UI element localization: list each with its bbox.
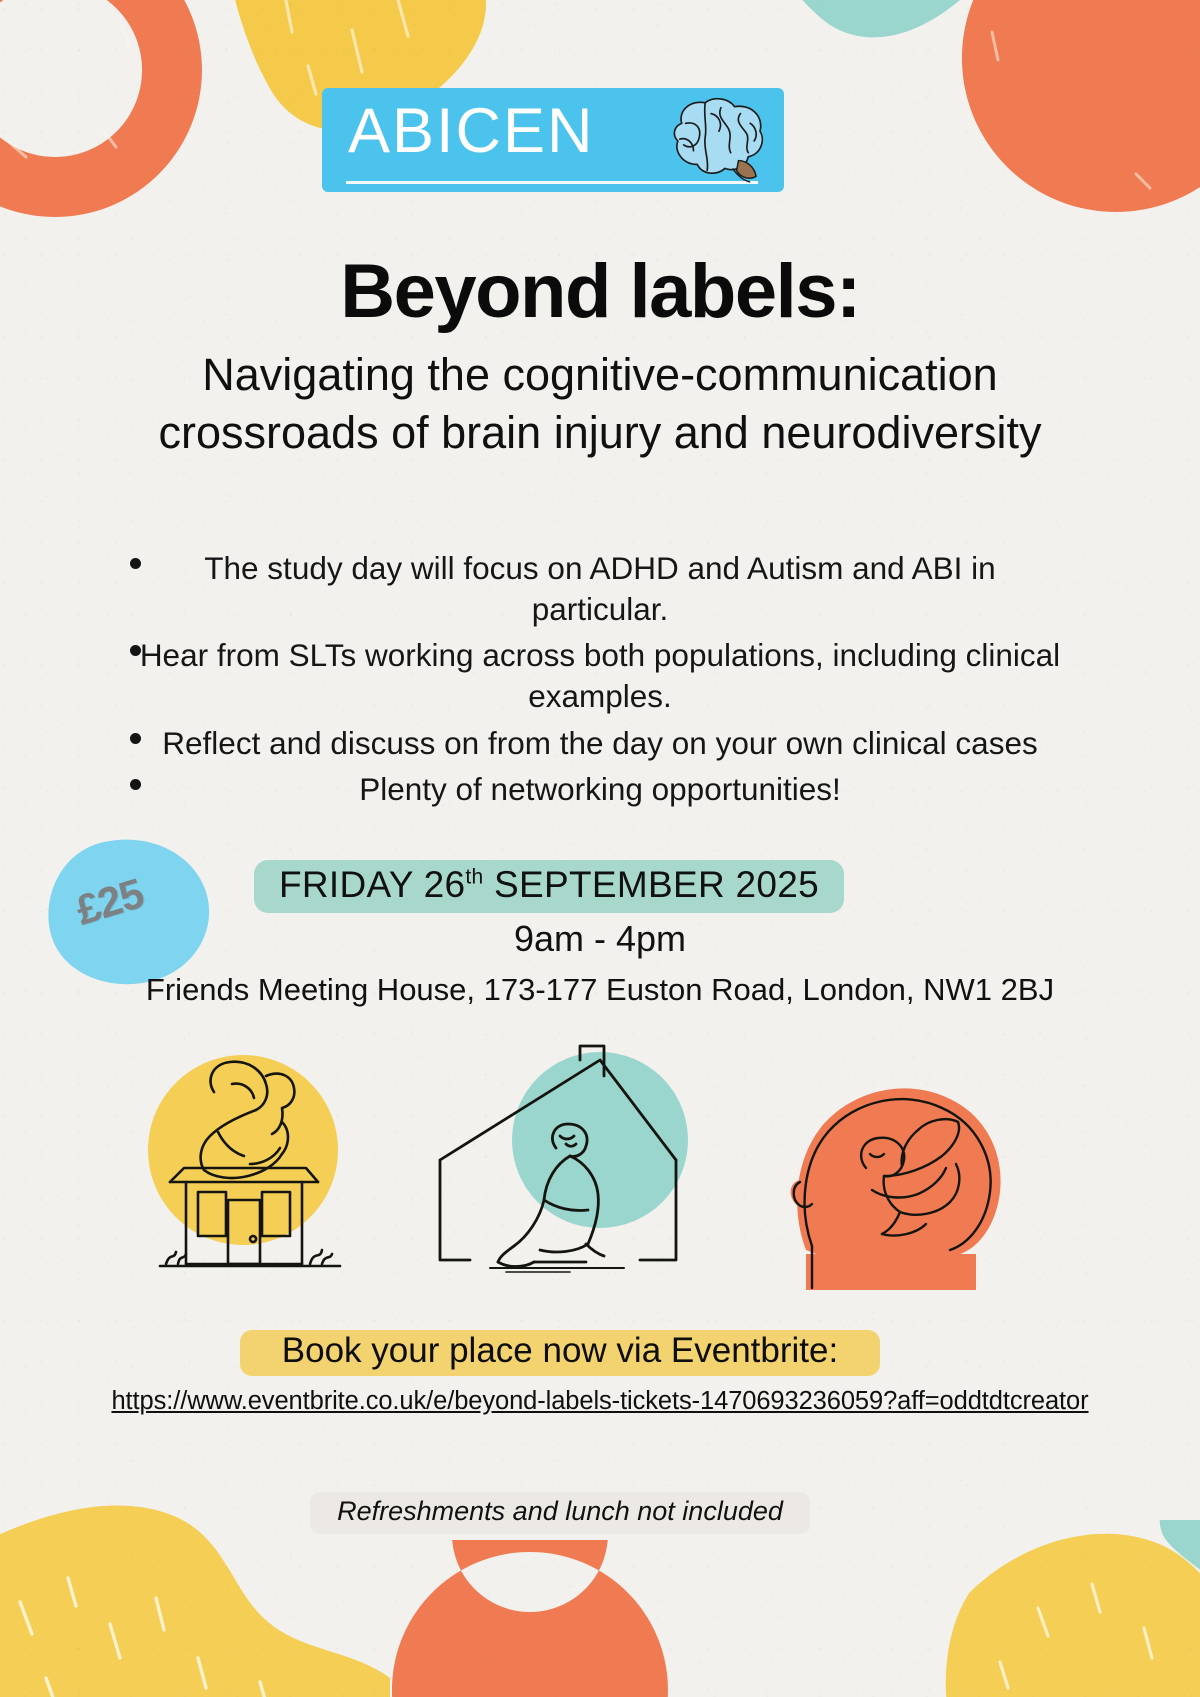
booking-cta-label: Book your place now via Eventbrite: [240,1331,880,1371]
bullet-dot-icon [130,779,141,790]
abicen-logo-text: ABICEN [348,100,595,163]
footnote-label: Refreshments and lunch not included [310,1496,810,1527]
date-prefix: FRIDAY 26 [279,864,465,905]
eventbrite-link[interactable]: https://www.eventbrite.co.uk/e/beyond-la… [0,1387,1200,1416]
brain-icon [656,94,774,186]
bullet-dot-icon [130,558,141,569]
decor-top-right-orange-spiral [946,0,1200,228]
abicen-logo-band: ABICEN [322,88,784,192]
illustration-row [0,1040,1200,1310]
event-date: FRIDAY 26th SEPTEMBER 2025 [254,864,844,906]
poster-canvas: ABICEN Beyond labels: Navigating the cog… [0,0,1200,1697]
list-item-label: Hear from SLTs working across both popul… [140,637,1060,714]
date-ordinal: th [465,866,483,889]
bullet-dot-icon [130,733,141,744]
list-item: Reflect and discuss on from the day on y… [112,723,1088,764]
list-item: The study day will focus on ADHD and Aut… [112,548,1088,629]
decor-bottom-center-orange-ring [380,1540,680,1697]
decor-top-left-orange-ring [0,0,220,235]
list-item-label: The study day will focus on ADHD and Aut… [204,550,995,627]
decor-bottom-right-orange-corner [1046,1330,1200,1520]
bullet-list: The study day will focus on ADHD and Aut… [112,548,1088,816]
page-subtitle: Navigating the cognitive-communication c… [100,346,1100,461]
illustration-yellow-circle [148,1055,338,1245]
list-item-label: Reflect and discuss on from the day on y… [162,725,1037,761]
event-venue: Friends Meeting House, 173-177 Euston Ro… [0,972,1200,1008]
event-time: 9am - 4pm [0,918,1200,960]
list-item: Hear from SLTs working across both popul… [112,635,1088,716]
date-suffix: SEPTEMBER 2025 [483,864,819,905]
list-item-label: Plenty of networking opportunities! [359,771,841,807]
page-title: Beyond labels: [0,248,1200,335]
decor-bottom-right-teal-yellow [800,1482,1200,1697]
list-item: Plenty of networking opportunities! [112,769,1088,810]
